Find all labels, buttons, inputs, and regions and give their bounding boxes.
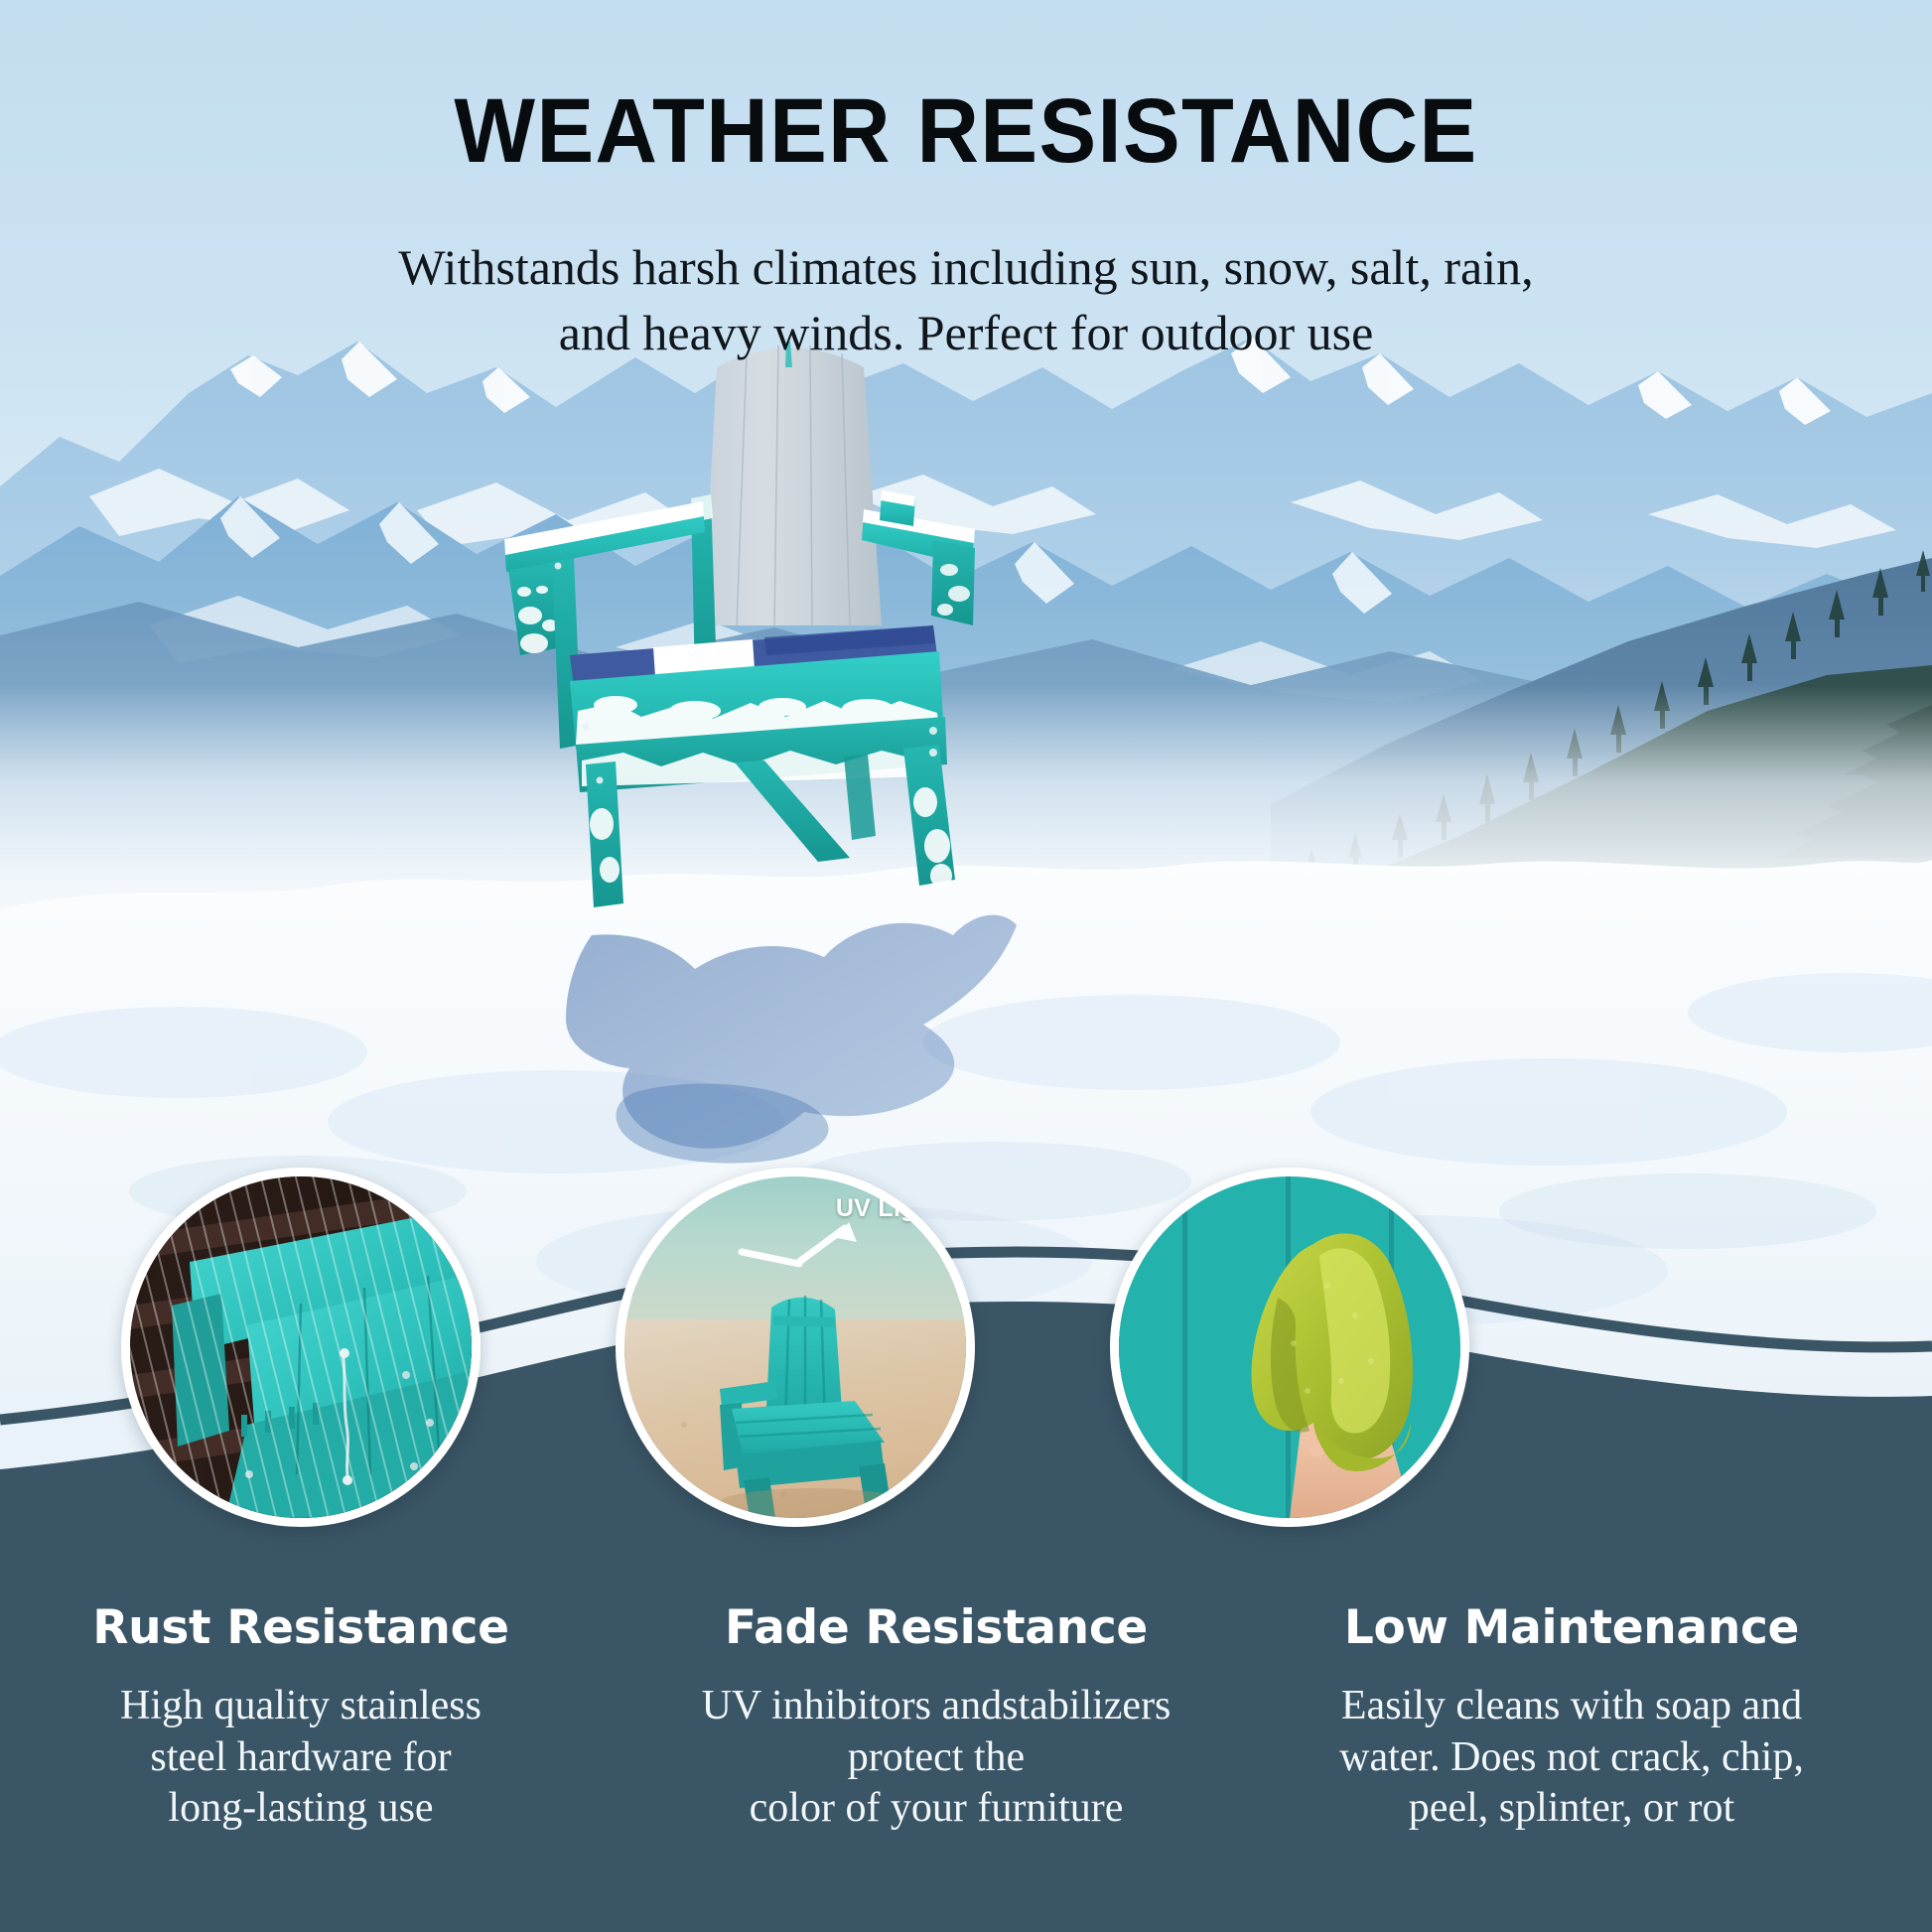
feature-body-rust: High quality stainless steel hardware fo…: [43, 1681, 559, 1835]
feature-body-maintenance-line-1: Easily cleans with soap and: [1313, 1681, 1830, 1732]
adirondack-chair-snow-covered: [467, 328, 1082, 923]
feature-photo-low-maintenance: [1110, 1168, 1469, 1527]
feature-block-rust-resistance: Rust Resistance High quality stainless s…: [43, 1600, 559, 1835]
feature-photo-fade-resistance: UV Light: [616, 1168, 975, 1527]
fade-photo-inner: UV Light: [624, 1176, 966, 1518]
page-subtitle: Withstands harsh climates including sun,…: [0, 234, 1932, 365]
feature-title-fade: Fade Resistance: [678, 1600, 1194, 1655]
hand-and-cloth-illustration: [1119, 1176, 1460, 1518]
feature-title-rust: Rust Resistance: [43, 1600, 559, 1655]
beach-chair-illustration: [624, 1176, 966, 1518]
feature-body-maintenance: Easily cleans with soap and water. Does …: [1313, 1681, 1830, 1835]
rain-streaks-overlay: [130, 1176, 472, 1518]
feature-body-rust-line-1: High quality stainless: [43, 1681, 559, 1732]
infographic-canvas: WEATHER RESISTANCE Withstands harsh clim…: [0, 0, 1932, 1932]
feature-photo-rust-resistance: [121, 1168, 481, 1527]
feature-body-rust-line-3: long-lasting use: [43, 1783, 559, 1835]
maintenance-photo-inner: [1119, 1176, 1460, 1518]
rust-photo-inner: [130, 1176, 472, 1518]
uv-light-annotation: UV Light: [836, 1194, 940, 1223]
feature-body-fade: UV inhibitors andstabilizers protect the…: [678, 1681, 1194, 1835]
feature-body-fade-line-1: UV inhibitors andstabilizers: [678, 1681, 1194, 1732]
subtitle-line-1: Withstands harsh climates including sun,…: [0, 234, 1932, 300]
feature-title-maintenance: Low Maintenance: [1313, 1600, 1830, 1655]
feature-body-rust-line-2: steel hardware for: [43, 1732, 559, 1784]
feature-body-fade-line-2: protect the: [678, 1732, 1194, 1784]
feature-body-maintenance-line-3: peel, splinter, or rot: [1313, 1783, 1830, 1835]
feature-block-fade-resistance: Fade Resistance UV inhibitors andstabili…: [678, 1600, 1194, 1835]
feature-body-fade-line-3: color of your furniture: [678, 1783, 1194, 1835]
page-title: WEATHER RESISTANCE: [58, 85, 1873, 177]
subtitle-line-2: and heavy winds. Perfect for outdoor use: [0, 300, 1932, 365]
feature-block-low-maintenance: Low Maintenance Easily cleans with soap …: [1313, 1600, 1830, 1835]
feature-body-maintenance-line-2: water. Does not crack, chip,: [1313, 1732, 1830, 1784]
